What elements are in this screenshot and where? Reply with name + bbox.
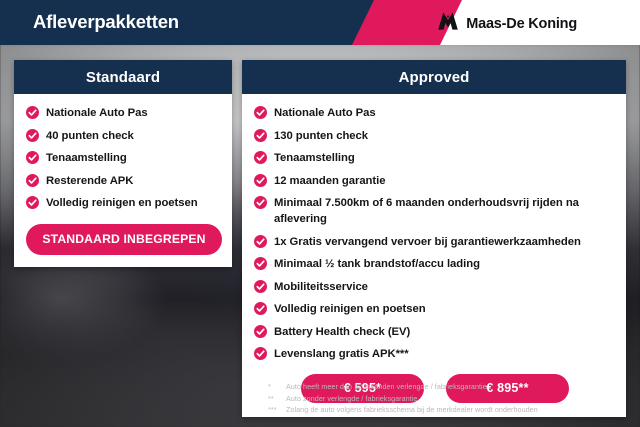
check-circle-icon — [254, 325, 267, 338]
footnote-triple-asterisk: *** Zolang de auto volgens fabrieksschem… — [268, 404, 628, 416]
list-item: 1x Gratis vervangend vervoer bij garanti… — [254, 234, 616, 250]
feature-label: Nationale Auto Pas — [274, 105, 376, 121]
feature-label: Nationale Auto Pas — [46, 105, 148, 121]
feature-label: Mobiliteitsservice — [274, 279, 368, 295]
feature-label: 130 punten check — [274, 128, 368, 144]
feature-label: Levenslang gratis APK*** — [274, 346, 409, 362]
check-circle-icon — [26, 174, 39, 187]
page-header: Afleverpakketten Maas-De Koning — [0, 0, 640, 45]
check-circle-icon — [26, 129, 39, 142]
list-item: 130 punten check — [254, 128, 616, 144]
feature-label: Tenaamstelling — [46, 150, 127, 166]
feature-label: Resterende APK — [46, 173, 133, 189]
feature-list-approved: Nationale Auto Pas 130 punten check Tena… — [254, 105, 616, 362]
list-item: Tenaamstelling — [254, 150, 616, 166]
check-circle-icon — [254, 280, 267, 293]
footnote-mark: *** — [268, 404, 286, 416]
card-body-approved: Nationale Auto Pas 130 punten check Tena… — [242, 94, 626, 417]
check-circle-icon — [26, 106, 39, 119]
footnotes: * Auto heeft meer dan 12 maanden verleng… — [268, 381, 628, 416]
card-body-standaard: Nationale Auto Pas 40 punten check Tenaa… — [14, 94, 232, 267]
feature-label: Minimaal ½ tank brandstof/accu lading — [274, 256, 480, 272]
check-circle-icon — [254, 151, 267, 164]
list-item: Levenslang gratis APK*** — [254, 346, 616, 362]
list-item: Minimaal ½ tank brandstof/accu lading — [254, 256, 616, 272]
feature-label: Battery Health check (EV) — [274, 324, 410, 340]
footnote-text: Zolang de auto volgens fabrieksschema bi… — [286, 404, 628, 416]
list-item: Volledig reinigen en poetsen — [26, 195, 222, 211]
check-circle-icon — [26, 196, 39, 209]
list-item: 40 punten check — [26, 128, 222, 144]
feature-label: 12 maanden garantie — [274, 173, 385, 189]
check-circle-icon — [26, 151, 39, 164]
footnote-text: Auto zonder verlengde / fabrieksgarantie — [286, 393, 628, 405]
footnote-single-asterisk: * Auto heeft meer dan 12 maanden verleng… — [268, 381, 628, 393]
brand-lockup: Maas-De Koning — [437, 11, 577, 36]
card-title-approved: Approved — [399, 69, 470, 86]
list-item: Nationale Auto Pas — [254, 105, 616, 121]
check-circle-icon — [254, 129, 267, 142]
feature-label: 40 punten check — [46, 128, 134, 144]
feature-label: Minimaal 7.500km of 6 maanden onderhouds… — [274, 195, 616, 227]
footnote-mark: ** — [268, 393, 286, 405]
check-circle-icon — [254, 196, 267, 209]
footnote-double-asterisk: ** Auto zonder verlengde / fabrieksgaran… — [268, 393, 628, 405]
card-header-standaard: Standaard — [14, 60, 232, 94]
feature-label: Volledig reinigen en poetsen — [46, 195, 198, 211]
check-circle-icon — [254, 302, 267, 315]
page-title: Afleverpakketten — [33, 11, 179, 33]
check-circle-icon — [254, 257, 267, 270]
list-item: Mobiliteitsservice — [254, 279, 616, 295]
check-circle-icon — [254, 347, 267, 360]
feature-label: Tenaamstelling — [274, 150, 355, 166]
slide-root: Afleverpakketten Maas-De Koning Standaar… — [0, 0, 640, 427]
check-circle-icon — [254, 106, 267, 119]
feature-label: Volledig reinigen en poetsen — [274, 301, 426, 317]
check-circle-icon — [254, 235, 267, 248]
list-item: Tenaamstelling — [26, 150, 222, 166]
card-header-approved: Approved — [242, 60, 626, 94]
list-item: 12 maanden garantie — [254, 173, 616, 189]
footnote-mark: * — [268, 381, 286, 393]
standaard-inbegrepen-button[interactable]: STANDAARD INBEGREPEN — [26, 224, 222, 255]
list-item: Volledig reinigen en poetsen — [254, 301, 616, 317]
package-card-standaard: Standaard Nationale Auto Pas 40 punten c… — [14, 60, 232, 267]
list-item: Battery Health check (EV) — [254, 324, 616, 340]
maas-de-koning-m-logo-icon — [437, 11, 459, 36]
brand-name: Maas-De Koning — [466, 16, 577, 32]
check-circle-icon — [254, 174, 267, 187]
feature-list-standaard: Nationale Auto Pas 40 punten check Tenaa… — [26, 105, 222, 211]
feature-label: 1x Gratis vervangend vervoer bij garanti… — [274, 234, 581, 250]
footnote-text: Auto heeft meer dan 12 maanden verlengde… — [286, 381, 628, 393]
list-item: Nationale Auto Pas — [26, 105, 222, 121]
list-item: Resterende APK — [26, 173, 222, 189]
card-title-standaard: Standaard — [86, 69, 160, 86]
list-item: Minimaal 7.500km of 6 maanden onderhouds… — [254, 195, 616, 227]
package-card-approved: Approved Nationale Auto Pas 130 punten c… — [242, 60, 626, 417]
